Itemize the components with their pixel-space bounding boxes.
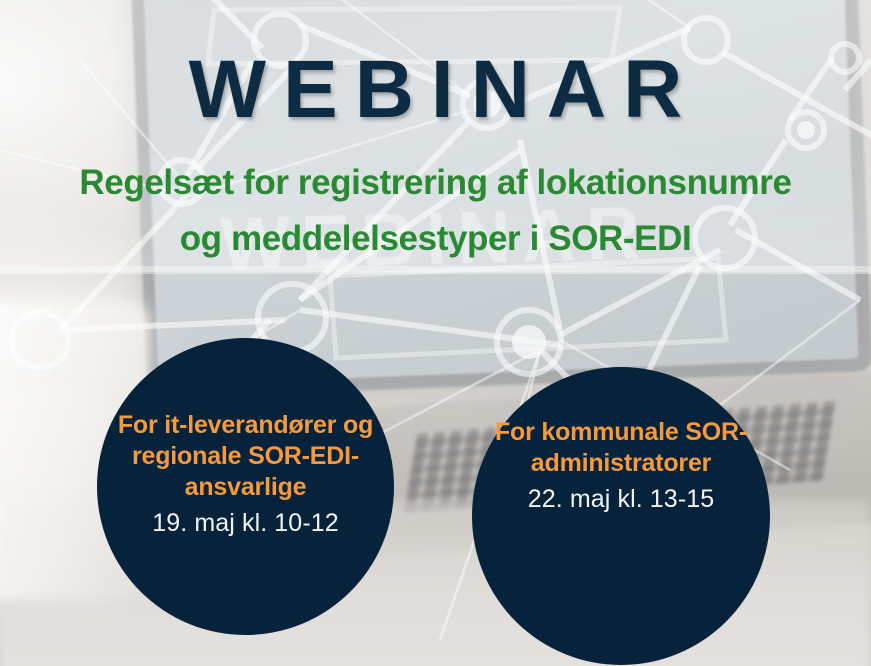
- session-audience-left: For it-leverandører og regionale SOR-EDI…: [118, 410, 373, 503]
- session-datetime-right: 22. maj kl. 13-15: [528, 483, 715, 515]
- session-datetime-left: 19. maj kl. 10-12: [152, 507, 339, 539]
- page-title: WEBINAR: [0, 44, 871, 136]
- poster-subtitle: Regelsæt for registrering af lokationsnu…: [18, 155, 853, 267]
- poster-content: WEBINAR Regelsæt for registrering af lok…: [0, 0, 871, 666]
- session-bubble-right: For kommunale SOR-administratorer 22. ma…: [472, 367, 770, 665]
- webinar-poster: WEBINAR: [0, 0, 871, 666]
- session-audience-right: For kommunale SOR-administratorer: [493, 417, 749, 479]
- subtitle-line-1: Regelsæt for registrering af lokationsnu…: [79, 163, 791, 202]
- session-bubble-left: For it-leverandører og regionale SOR-EDI…: [97, 338, 394, 635]
- subtitle-line-2: og meddelelsestyper i SOR-EDI: [18, 211, 853, 267]
